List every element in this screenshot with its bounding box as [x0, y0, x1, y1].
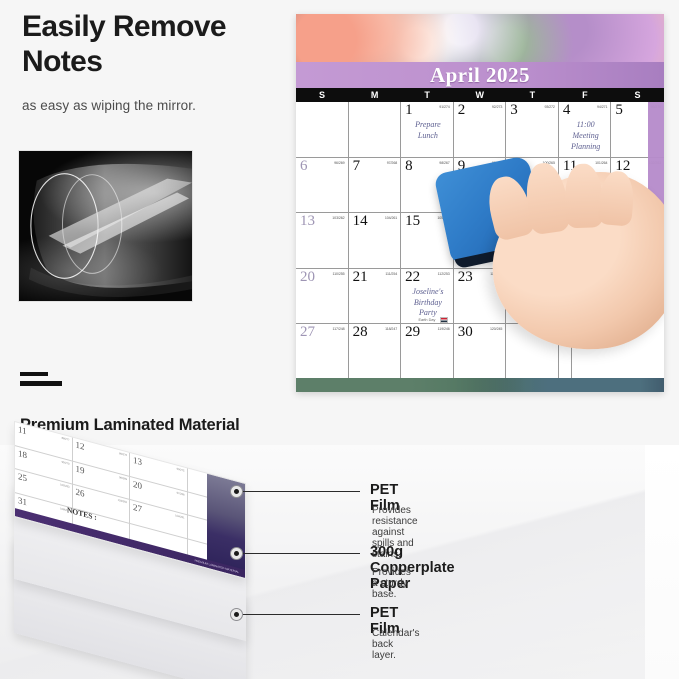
calendar-handwritten-note: 11:00MeetingPlanning: [565, 120, 607, 152]
divider-dash-bottom: [20, 381, 62, 386]
calendar-julian-label: 96/269: [334, 161, 344, 165]
calendar-handwritten-note: PrepareLunch: [407, 120, 449, 142]
us-flag-icon: [441, 318, 447, 322]
mini-day-number: 18: [18, 447, 27, 459]
mini-julian-label: 95/270: [62, 460, 70, 465]
mini-julian-label: 97/268: [177, 491, 185, 496]
film-roll-illustration: [19, 151, 192, 301]
headline-line-1: Easily Remove: [22, 10, 284, 45]
callout-dot-1[interactable]: [230, 485, 243, 498]
calendar-day-number: 2: [458, 103, 466, 118]
calendar-day-cell: 13103/262: [296, 213, 349, 269]
mini-day-number: 20: [133, 478, 142, 490]
calendar-day-cell: 393/272: [506, 102, 559, 158]
calendar-day-cell: 29119/246: [401, 324, 454, 380]
calendar-day-number: 3: [510, 103, 518, 118]
calendar-julian-label: 98/267: [439, 161, 449, 165]
calendar-month-title: April 2025: [430, 63, 530, 88]
floral-header-band: [296, 14, 664, 62]
calendar-day-cell: 494/27111:00MeetingPlanning: [559, 102, 612, 158]
weekday-sun: S: [296, 88, 349, 102]
calendar-day-number: 6: [300, 159, 308, 174]
calendar-day-number: 23: [458, 270, 473, 285]
callout-desc-2: Provides a sturdy base.: [372, 567, 411, 600]
calendar-day-cell: 797/268: [349, 158, 402, 214]
calendar-day-cell: 14104/261: [349, 213, 402, 269]
calendar-julian-label: 103/262: [332, 216, 344, 220]
calendar-day-cell: 28118/247: [349, 324, 402, 380]
calendar-day-cell: 30120/245: [454, 324, 507, 380]
callout-desc-3: Calendar's back layer.: [372, 628, 420, 661]
calendar-day-cell: 27117/248: [296, 324, 349, 380]
calendar-day-number: 14: [353, 214, 368, 229]
calendar-product-photo: April 2025 S M T W T F S 191/274PrepareL…: [296, 14, 664, 392]
weekday-sat: S: [611, 88, 664, 102]
weekday-mon: M: [349, 88, 402, 102]
calendar-julian-label: 97/268: [387, 161, 397, 165]
calendar-julian-label: 120/245: [490, 327, 502, 331]
calendar-julian-label: 112/253: [438, 272, 450, 276]
mini-julian-label: 90/275: [177, 467, 185, 472]
hero-text-block: Easily Remove Notes as easy as wiping th…: [22, 10, 284, 113]
mini-day-number: 31: [18, 494, 27, 506]
mini-julian-label: 103/262: [118, 499, 127, 505]
product-infographic-page: Easily Remove Notes as easy as wiping th…: [0, 0, 679, 679]
section-divider: [20, 372, 62, 386]
calendar-day-cell: 22112/253Joseline'sBirthdayPartyEarth Da…: [401, 269, 454, 325]
calendar-day-number: 20: [300, 270, 315, 285]
weekday-tue: T: [401, 88, 454, 102]
divider-dash-top: [20, 372, 48, 376]
calendar-day-cell: 21111/254: [349, 269, 402, 325]
mini-day-number: 27: [133, 502, 142, 514]
mini-day-number: 13: [133, 455, 142, 467]
right-white-panel: [645, 445, 679, 679]
callout-line-1: [243, 491, 360, 492]
mini-julian-label: 104/261: [175, 514, 184, 520]
headline-line-2: Notes: [22, 45, 284, 80]
page-title: Easily Remove Notes: [22, 10, 284, 80]
calendar-julian-label: 92/273: [492, 105, 502, 109]
calendar-julian-label: 91/274: [439, 105, 449, 109]
calendar-day-number: 7: [353, 159, 361, 174]
month-title-band: April 2025: [296, 62, 664, 88]
calendar-julian-label: 111/254: [385, 272, 397, 276]
calendar-julian-label: 93/272: [544, 105, 554, 109]
mini-julian-label: 89/276: [119, 452, 127, 457]
calendar-julian-label: 117/248: [333, 327, 345, 331]
calendar-day-number: 13: [300, 214, 315, 229]
calendar-day-number: 29: [405, 325, 420, 340]
mini-julian-label: 102/263: [60, 483, 69, 489]
mini-day-number: 26: [76, 486, 85, 498]
calendar-day-number: 30: [458, 325, 473, 340]
mini-day-number: 11: [18, 424, 27, 436]
weekday-wed: W: [454, 88, 507, 102]
calendar-day-number: 28: [353, 325, 368, 340]
calendar-day-number: 8: [405, 159, 413, 174]
calendar-day-number: 21: [353, 270, 368, 285]
mini-day-number: 25: [18, 471, 27, 483]
calendar-day-number: 4: [563, 103, 571, 118]
calendar-julian-label: 118/247: [385, 327, 397, 331]
mini-day-number: 19: [76, 463, 85, 475]
mini-day-number: 12: [76, 439, 85, 451]
callout-line-3: [243, 614, 360, 615]
calendar-day-number: 5: [615, 103, 623, 118]
hero-subtitle: as easy as wiping the mirror.: [22, 98, 284, 113]
transparent-film-photo: [18, 150, 193, 302]
calendar-day-number: 15: [405, 214, 420, 229]
floral-footer-band: [296, 378, 664, 392]
mini-julian-label: 88/277: [62, 437, 70, 442]
calendar-day-cell: [296, 102, 349, 158]
calendar-julian-label: 101/264: [595, 161, 607, 165]
mini-julian-label: 96/269: [119, 476, 127, 481]
laminate-layers-diagram: 1188/2771289/2761390/2751895/2701996/269…: [8, 452, 258, 642]
calendar-day-cell: 191/274PrepareLunch: [401, 102, 454, 158]
weekday-fri: F: [559, 88, 612, 102]
calendar-julian-label: 110/255: [333, 272, 345, 276]
calendar-day-cell: [349, 102, 402, 158]
calendar-julian-label: 104/261: [385, 216, 397, 220]
calendar-day-cell: 20110/255: [296, 269, 349, 325]
calendar-day-cell: 292/273: [454, 102, 507, 158]
calendar-day-number: 22: [405, 270, 420, 285]
callout-dot-2[interactable]: [230, 547, 243, 560]
calendar-day-number: 1: [405, 103, 413, 118]
calendar-day-cell: 696/269: [296, 158, 349, 214]
calendar-julian-label: 119/246: [438, 327, 450, 331]
calendar-day-number: 27: [300, 325, 315, 340]
callout-line-2: [243, 553, 360, 554]
calendar-handwritten-note: Joseline'sBirthdayParty: [407, 287, 449, 319]
calendar-julian-label: 94/271: [597, 105, 607, 109]
weekday-thu: T: [506, 88, 559, 102]
weekday-header-row: S M T W T F S: [296, 88, 664, 102]
callout-dot-3[interactable]: [230, 608, 243, 621]
